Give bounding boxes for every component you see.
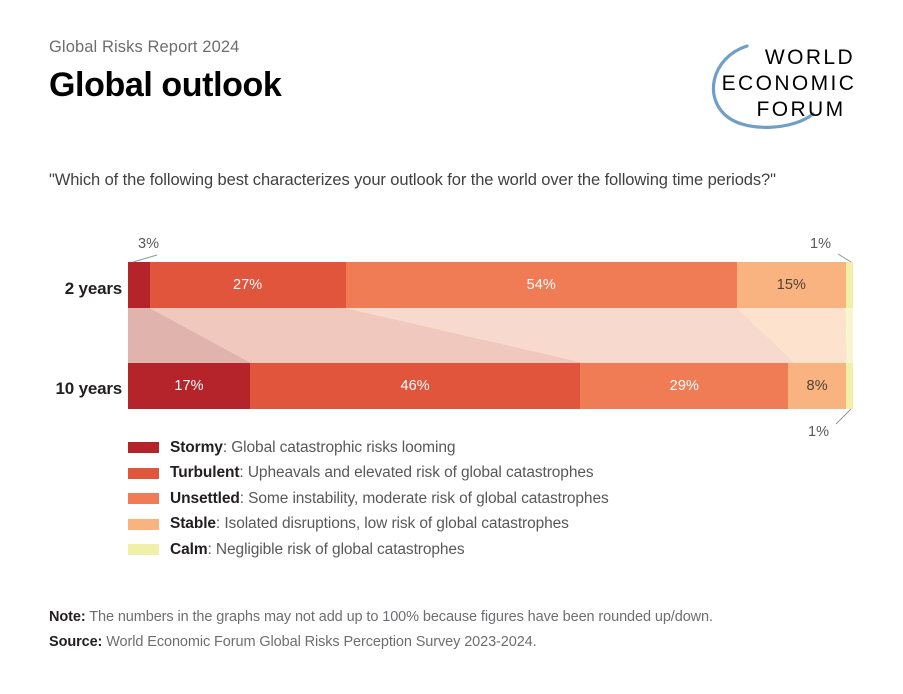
legend-swatch-turbulent-icon	[128, 468, 159, 479]
legend-item-stormy[interactable]: Stormy: Global catastrophic risks loomin…	[128, 435, 609, 461]
legend-item-calm[interactable]: Calm: Negligible risk of global catastro…	[128, 537, 609, 563]
legend-label-turbulent: Turbulent: Upheavals and elevated risk o…	[170, 464, 594, 482]
segment-10y-unsettled[interactable]: 29%	[580, 363, 788, 409]
stacked-bar-chart: 2 years 10 years 3% 27% 54% 15% 1% 17% 4…	[0, 228, 903, 453]
callout-3-percent: 3%	[138, 236, 159, 252]
legend-label-calm: Calm: Negligible risk of global catastro…	[170, 541, 465, 559]
chart-footer: Note: The numbers in the graphs may not …	[49, 605, 713, 656]
bar-10-years: 17% 46% 29% 8% 1%	[128, 363, 853, 409]
legend-swatch-unsettled-icon	[128, 493, 159, 504]
legend-swatch-stormy-icon	[128, 442, 159, 453]
segment-2y-unsettled[interactable]: 54%	[346, 262, 738, 308]
leader-line-3-percent	[133, 255, 157, 262]
bar-category-label-2-years: 2 years	[12, 279, 122, 299]
segment-10y-turbulent[interactable]: 46%	[250, 363, 580, 409]
legend-item-stable[interactable]: Stable: Isolated disruptions, low risk o…	[128, 512, 609, 538]
legend-item-unsettled[interactable]: Unsettled: Some instability, moderate ri…	[128, 486, 609, 512]
legend-swatch-stable-icon	[128, 519, 159, 530]
segment-2y-stable[interactable]: 15%	[737, 262, 846, 308]
leader-line-1-percent-10y	[836, 409, 851, 424]
callout-1-percent-2y: 1%	[810, 236, 831, 252]
callout-1-percent-10y: 1%	[808, 424, 829, 440]
page-title: Global outlook	[49, 67, 281, 104]
footer-source: Source: World Economic Forum Global Risk…	[49, 630, 713, 655]
legend-label-stable: Stable: Isolated disruptions, low risk o…	[170, 515, 569, 533]
logo-line-economic: ECONOMIC	[722, 72, 857, 95]
world-economic-forum-logo: WORLD ECONOMIC FORUM	[677, 38, 857, 133]
segment-2y-stormy[interactable]: 3%	[128, 262, 150, 308]
legend-swatch-calm-icon	[128, 544, 159, 555]
footer-note: Note: The numbers in the graphs may not …	[49, 605, 713, 630]
segment-2y-turbulent[interactable]: 27%	[150, 262, 346, 308]
wef-logo-svg: WORLD ECONOMIC FORUM	[677, 38, 857, 133]
legend-label-stormy: Stormy: Global catastrophic risks loomin…	[170, 439, 455, 457]
leader-line-1-percent-2y	[838, 254, 851, 262]
segment-10y-calm[interactable]: 1%	[846, 363, 853, 409]
logo-line-forum: FORUM	[757, 98, 846, 121]
bar-2-years: 3% 27% 54% 15% 1%	[128, 262, 853, 308]
flow-band-calm	[846, 308, 853, 363]
segment-10y-stormy[interactable]: 17%	[128, 363, 250, 409]
segment-2y-calm[interactable]: 1%	[846, 262, 853, 308]
legend-item-turbulent[interactable]: Turbulent: Upheavals and elevated risk o…	[128, 461, 609, 487]
flow-ribbon	[128, 308, 853, 363]
logo-line-world: WORLD	[765, 46, 855, 69]
bar-category-label-10-years: 10 years	[12, 379, 122, 399]
chart-legend: Stormy: Global catastrophic risks loomin…	[128, 435, 609, 563]
survey-question: "Which of the following best characteriz…	[49, 171, 776, 190]
legend-label-unsettled: Unsettled: Some instability, moderate ri…	[170, 490, 609, 508]
page-header: Global Risks Report 2024 Global outlook	[49, 38, 281, 104]
segment-10y-stable[interactable]: 8%	[788, 363, 845, 409]
report-kicker: Global Risks Report 2024	[49, 38, 281, 58]
